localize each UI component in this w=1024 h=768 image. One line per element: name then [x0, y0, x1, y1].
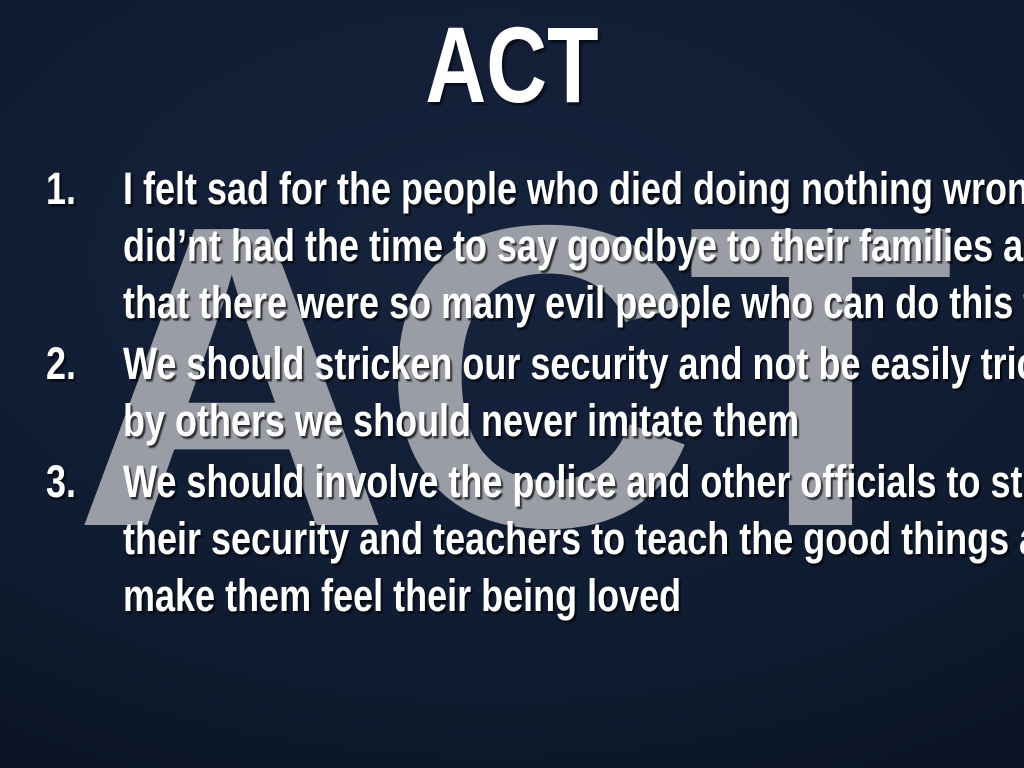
list-item-number: 2. — [46, 335, 122, 392]
list-item-line: did’nt had the time to say goodbye to th… — [123, 217, 995, 274]
numbered-list: 1. I felt sad for the people who died do… — [46, 160, 986, 628]
list-item-number: 1. — [46, 160, 122, 217]
list-item-text: I felt sad for the people who died doing… — [123, 160, 995, 331]
list-item-line: We should stricken our security and not … — [123, 335, 995, 392]
list-item: 1. I felt sad for the people who died do… — [46, 160, 986, 331]
slide-canvas: ACT ACT 1. I felt sad for the people who… — [0, 0, 1024, 768]
list-item-number: 3. — [46, 453, 122, 510]
list-item-text: We should involve the police and other o… — [123, 453, 995, 624]
list-item-line: I felt sad for the people who died doing… — [123, 160, 995, 217]
page-title: ACT — [113, 8, 912, 121]
list-item-line: by others we should never imitate them — [123, 392, 995, 449]
list-item: 2. We should stricken our security and n… — [46, 335, 986, 449]
list-item: 3. We should involve the police and othe… — [46, 453, 986, 624]
list-item-line: make them feel their being loved — [123, 567, 995, 624]
list-item-text: We should stricken our security and not … — [123, 335, 995, 449]
list-item-line: We should involve the police and other o… — [123, 453, 995, 510]
list-item-line: their security and teachers to teach the… — [123, 510, 995, 567]
list-item-line: that there were so many evil people who … — [123, 274, 995, 331]
